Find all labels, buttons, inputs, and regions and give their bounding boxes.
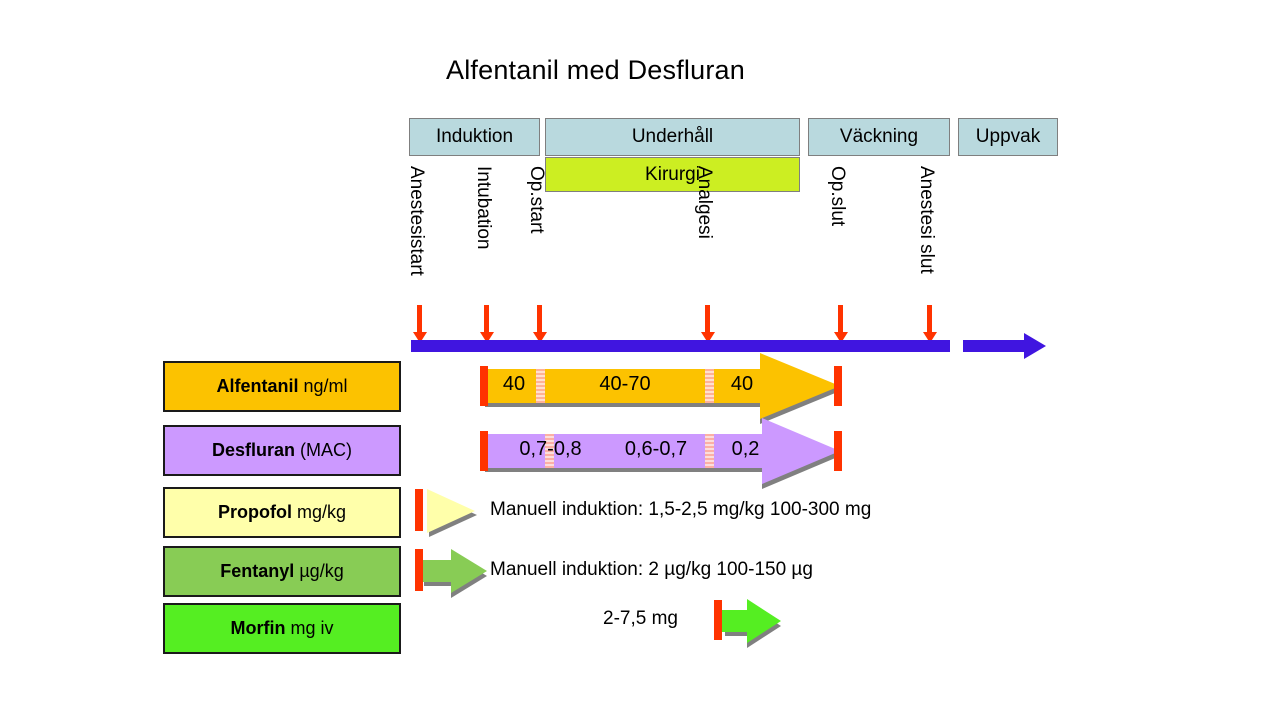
morfin-dose: 2-7,5 mg xyxy=(603,608,678,630)
phase-box-uppvak: Uppvak xyxy=(958,118,1058,156)
propofol-arrow-head xyxy=(427,489,475,533)
drug-name: Desfluran xyxy=(212,440,295,461)
phase-box-vackning: Väckning xyxy=(808,118,950,156)
event-arrow-shaft xyxy=(838,305,843,333)
drug-box-desfluran: Desfluran (MAC) xyxy=(163,425,401,476)
event-label: Anestesi slut xyxy=(917,166,936,274)
drug-box-fentanyl: Fentanyl µg/kg xyxy=(163,546,401,597)
fentanyl-arrow-shaft xyxy=(421,560,451,582)
event-arrow-shaft xyxy=(417,305,422,333)
event-arrow-shaft xyxy=(484,305,489,333)
alfentanil-bar-head xyxy=(760,353,840,419)
drug-box-alfentanil: Alfentanil ng/ml xyxy=(163,361,401,412)
alfentanil-end-marker xyxy=(834,366,842,406)
timeline-segment-main xyxy=(411,340,950,352)
phase-label: Uppvak xyxy=(976,126,1040,148)
desfluran-value: 0,7-0,8 xyxy=(494,438,607,461)
phase-label: Väckning xyxy=(840,126,918,148)
fentanyl-note: Manuell induktion: 2 µg/kg 100-150 µg xyxy=(490,559,813,581)
propofol-start-marker xyxy=(415,489,423,531)
alfentanil-value: 40 xyxy=(492,373,536,396)
event-arrow-shaft xyxy=(927,305,932,333)
drug-box-morfin: Morfin mg iv xyxy=(163,603,401,654)
desfluran-end-marker xyxy=(834,431,842,471)
desfluran-value: 0,2 xyxy=(717,438,774,461)
drug-box-propofol: Propofol mg/kg xyxy=(163,487,401,538)
fentanyl-arrow-shadow xyxy=(424,582,454,586)
surgery-box-kirurgi: Kirurgi xyxy=(545,157,800,192)
morfin-arrow-head xyxy=(747,599,781,643)
morfin-arrow-shaft xyxy=(722,610,747,632)
drug-name: Propofol xyxy=(218,502,292,523)
alfentanil-value: 40 xyxy=(714,373,770,396)
desfluran-start-marker xyxy=(480,431,488,471)
drug-unit: mg/kg xyxy=(297,502,346,523)
page-title: Alfentanil med Desfluran xyxy=(446,55,745,86)
phase-label: Underhåll xyxy=(632,126,713,148)
desfluran-bar-shadow xyxy=(485,468,765,472)
fentanyl-arrow-head xyxy=(451,549,487,593)
desfluran-value: 0,6-0,7 xyxy=(607,438,705,461)
fentanyl-start-marker xyxy=(415,549,423,591)
timeline-arrow-head xyxy=(1024,333,1046,359)
event-label: Op.start xyxy=(527,166,546,234)
phase-box-underhall: Underhåll xyxy=(545,118,800,156)
event-arrow-shaft xyxy=(537,305,542,333)
drug-name: Fentanyl xyxy=(220,561,294,582)
diagram-canvas: Alfentanil med Desfluran Induktion Under… xyxy=(0,0,1280,720)
alfentanil-value: 40-70 xyxy=(545,373,705,396)
event-label: Intubation xyxy=(474,166,493,249)
surgery-label: Kirurgi xyxy=(645,164,700,186)
timeline-segment-after xyxy=(963,340,1024,352)
drug-name: Morfin xyxy=(230,618,285,639)
event-label: Anestesistart xyxy=(407,166,426,276)
alfentanil-bar-shadow xyxy=(485,403,763,407)
drug-unit: ng/ml xyxy=(304,376,348,397)
propofol-note: Manuell induktion: 1,5-2,5 mg/kg 100-300… xyxy=(490,499,871,521)
drug-name: Alfentanil xyxy=(216,376,298,397)
drug-unit: (MAC) xyxy=(300,440,352,461)
morfin-start-marker xyxy=(714,600,722,640)
alfentanil-divider xyxy=(705,369,714,403)
alfentanil-divider xyxy=(536,369,545,403)
phase-box-induktion: Induktion xyxy=(409,118,540,156)
desfluran-divider xyxy=(705,434,714,468)
drug-unit: mg iv xyxy=(290,618,333,639)
drug-unit: µg/kg xyxy=(299,561,343,582)
event-arrow-shaft xyxy=(705,305,710,333)
event-label: Op.slut xyxy=(828,166,847,226)
alfentanil-start-marker xyxy=(480,366,488,406)
phase-label: Induktion xyxy=(436,126,513,148)
event-label: Analgesi xyxy=(695,166,714,239)
